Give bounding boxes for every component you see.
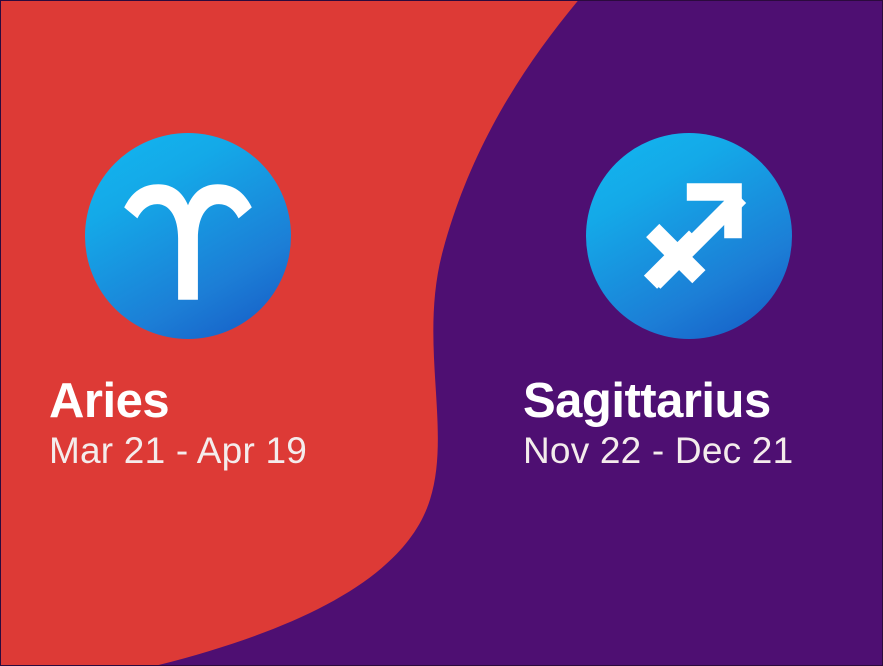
sign-panel-aries: Aries Mar 21 - Apr 19 — [1, 1, 442, 665]
aries-ram-icon — [122, 170, 254, 302]
sign-panel-sagittarius: Sagittarius Nov 22 - Dec 21 — [443, 1, 883, 665]
zodiac-disc-aries — [85, 133, 291, 339]
zodiac-compatibility-card: Aries Mar 21 - Apr 19 Sagittarius — [0, 0, 883, 666]
sign-name-sagittarius: Sagittarius — [523, 377, 883, 426]
sagittarius-archer-icon — [623, 170, 755, 302]
zodiac-disc-sagittarius — [586, 133, 792, 339]
sign-text-aries: Aries Mar 21 - Apr 19 — [49, 377, 439, 471]
sign-name-aries: Aries — [49, 377, 439, 426]
sign-dates-aries: Mar 21 - Apr 19 — [49, 432, 439, 471]
sign-text-sagittarius: Sagittarius Nov 22 - Dec 21 — [523, 377, 883, 471]
sign-dates-sagittarius: Nov 22 - Dec 21 — [523, 432, 883, 471]
